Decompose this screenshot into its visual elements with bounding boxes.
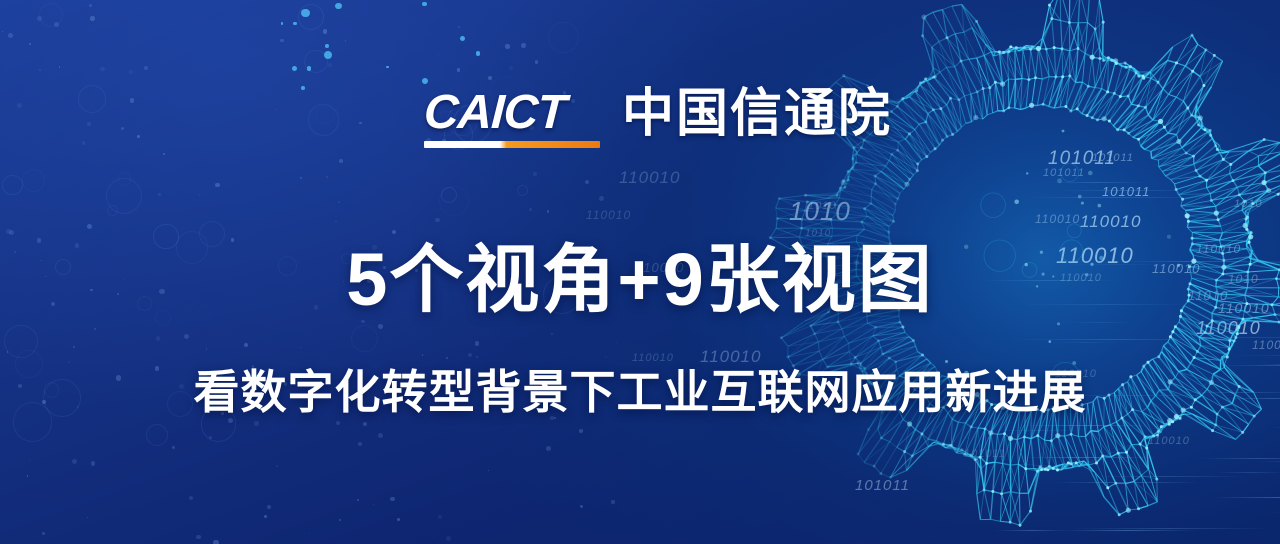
page-title: 5个视角+9张视图: [0, 240, 1280, 320]
page-subtitle: 看数字化转型背景下工业互联网应用新进展: [0, 366, 1280, 418]
logo-latin-text: CAICT: [423, 88, 602, 138]
caict-logo: CAICT 中国信通院: [424, 88, 892, 148]
poster-banner: 1100101010101011001011001011001011001010…: [0, 0, 1280, 544]
poster-content: CAICT 中国信通院 5个视角+9张视图 看数字化转型背景下工业互联网应用新进…: [0, 0, 1280, 544]
logo-latin-block: CAICT: [424, 88, 600, 148]
logo-chinese-text: 中国信通院: [622, 88, 892, 140]
logo-underline-bar: [424, 141, 600, 148]
